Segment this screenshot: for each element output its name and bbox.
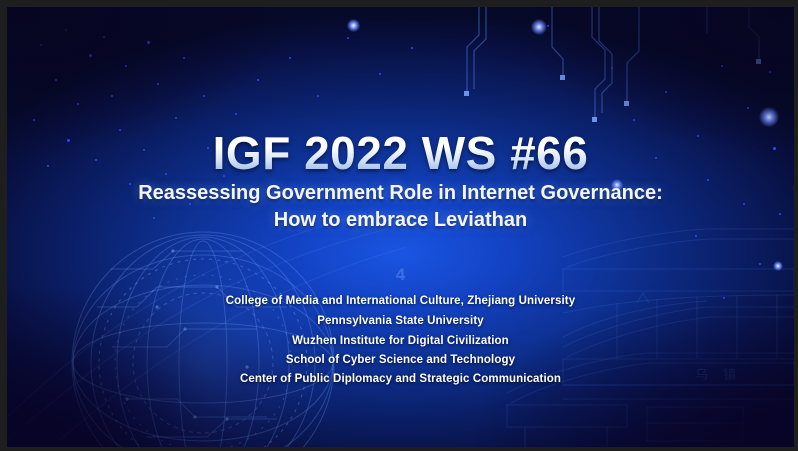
affiliation-line: Pennsylvania State University	[7, 315, 794, 327]
affiliation-line: College of Media and International Cultu…	[7, 295, 794, 307]
slide-frame: 乌镇	[0, 0, 798, 451]
subtitle-line-1: Reassessing Government Role in Internet …	[7, 182, 794, 205]
affiliation-line: Center of Public Diplomacy and Strategic…	[7, 373, 794, 385]
background-watermark-digit: 4	[7, 265, 794, 285]
affiliation-line: Wuzhen Institute for Digital Civilizatio…	[7, 335, 794, 347]
subtitle-line-2: How to embrace Leviathan	[7, 209, 794, 232]
affiliation-line: School of Cyber Science and Technology	[7, 354, 794, 366]
page-title: IGF 2022 WS #66	[7, 126, 794, 180]
presentation-slide: 乌镇	[7, 7, 794, 447]
